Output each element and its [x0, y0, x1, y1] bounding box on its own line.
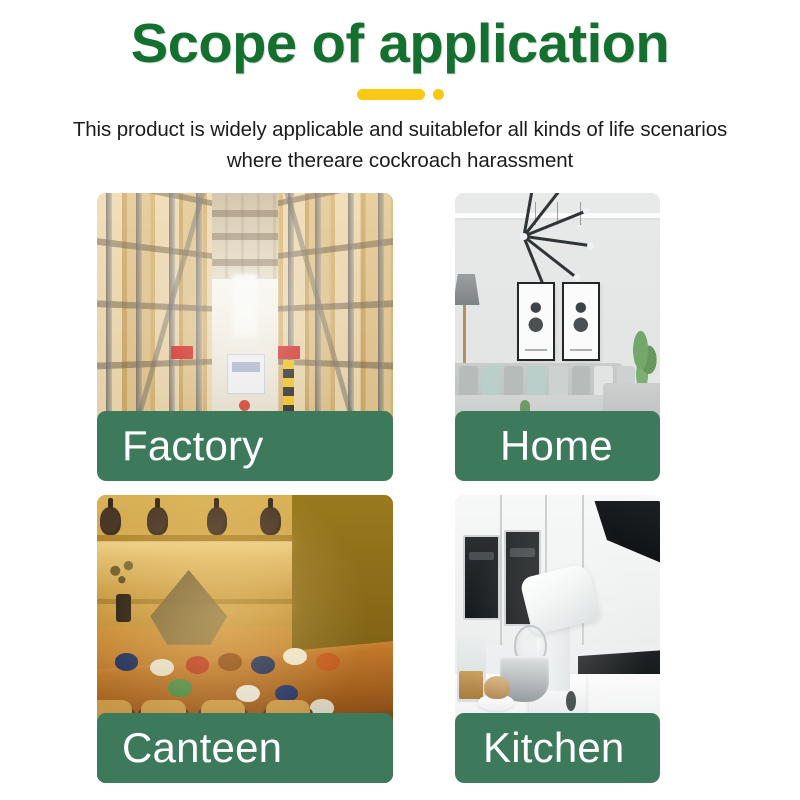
- card-label-text: Factory: [122, 424, 263, 468]
- sofa-cushion: [459, 366, 477, 398]
- title-divider: [0, 89, 800, 100]
- page-subtitle: This product is widely applicable and su…: [50, 114, 750, 176]
- art-illustration: [527, 299, 544, 338]
- art-caption-line: [525, 349, 547, 351]
- card-label-home: Home: [455, 411, 660, 481]
- sofa-cushion: [572, 366, 590, 398]
- page-title: Scope of application: [0, 14, 800, 72]
- scenario-card-kitchen[interactable]: Kitchen: [455, 495, 660, 783]
- sofa-cushion: [527, 366, 545, 398]
- scenario-card-canteen[interactable]: Canteen: [97, 495, 393, 783]
- sofa-cushion: [482, 366, 500, 398]
- divider-dot-icon: [433, 89, 444, 100]
- art-caption-line: [570, 349, 592, 351]
- card-label-text: Kitchen: [483, 726, 625, 770]
- sputnik-chandelier-icon: [500, 202, 615, 271]
- art-illustration: [572, 299, 589, 338]
- sofa-cushion: [549, 366, 567, 398]
- scenario-card-grid: Factory: [97, 193, 660, 783]
- card-label-canteen: Canteen: [97, 713, 393, 783]
- framed-art-left: [517, 282, 556, 361]
- card-label-factory: Factory: [97, 411, 393, 481]
- scenario-card-home[interactable]: Home: [455, 193, 660, 481]
- framed-art-right: [562, 282, 601, 361]
- card-label-text: Canteen: [122, 726, 282, 770]
- card-label-kitchen: Kitchen: [455, 713, 660, 783]
- scenario-card-factory[interactable]: Factory: [97, 193, 393, 481]
- page-header: Scope of application This product is wid…: [0, 0, 800, 176]
- card-label-text: Home: [500, 424, 613, 468]
- sofa-cushion: [504, 366, 522, 398]
- divider-bar-icon: [357, 89, 425, 100]
